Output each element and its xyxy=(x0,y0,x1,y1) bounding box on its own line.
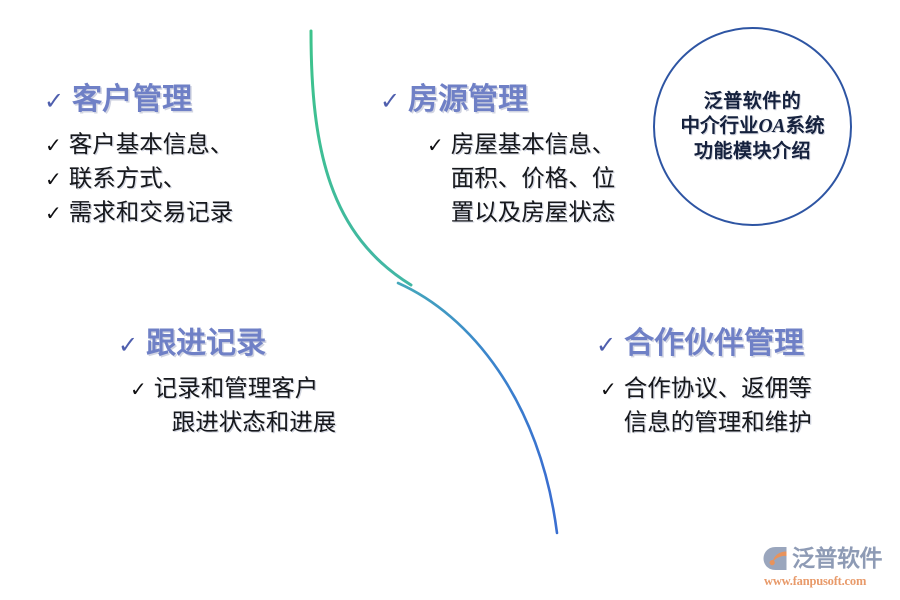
list-item: ✓ 记录和管理客户 跟进状态和进展 xyxy=(130,372,336,440)
list-item-line: 跟进状态和进展 xyxy=(154,406,337,440)
check-icon: ✓ xyxy=(380,89,400,113)
fanpu-mark-icon xyxy=(762,545,789,572)
quadrant-customer-heading: ✓ 客户管理 xyxy=(44,84,233,116)
slide-canvas: 泛普软件的 中介行业OA系统 功能模块介绍 ✓ 客户管理 ✓ 客户基本信息、 ✓… xyxy=(0,0,900,600)
check-icon: ✓ xyxy=(44,89,64,113)
quadrant-house: ✓ 房源管理 ✓ 房屋基本信息、 面积、价格、位 置以及房屋状态 xyxy=(380,84,615,230)
check-icon: ✓ xyxy=(130,372,147,406)
list-item-text: 联系方式、 xyxy=(69,162,187,196)
list-item-line: 房屋基本信息、 xyxy=(451,128,616,162)
fanpu-logo: 泛普软件 www.fanpusoft.com xyxy=(762,543,890,591)
quadrant-follow-heading: ✓ 跟进记录 xyxy=(118,328,336,360)
list-item-line: 客户基本信息、 xyxy=(69,128,234,162)
logo-url: www.fanpusoft.com xyxy=(764,574,866,589)
quadrant-customer-items: ✓ 客户基本信息、 ✓ 联系方式、 ✓ 需求和交易记录 xyxy=(45,128,233,230)
quadrant-partner: ✓ 合作伙伴管理 ✓ 合作协议、返佣等 信息的管理和维护 xyxy=(596,328,812,440)
list-item: ✓ 合作协议、返佣等 信息的管理和维护 xyxy=(600,372,812,440)
list-item: ✓ 客户基本信息、 xyxy=(45,128,233,162)
list-item-line: 合作协议、返佣等 xyxy=(624,372,812,406)
check-icon: ✓ xyxy=(118,333,138,357)
list-item-line: 记录和管理客户 xyxy=(154,372,337,406)
badge-line-3: 功能模块介绍 xyxy=(694,139,811,164)
badge-line-2-pre: 中介行业 xyxy=(680,116,758,137)
logo-top-row: 泛普软件 xyxy=(762,543,882,573)
check-icon: ✓ xyxy=(45,162,62,196)
quadrant-partner-title: 合作伙伴管理 xyxy=(624,328,804,360)
check-icon: ✓ xyxy=(596,333,616,357)
check-icon: ✓ xyxy=(427,128,444,162)
logo-wordmark: 泛普软件 xyxy=(792,547,882,570)
badge-line-2-oa: OA xyxy=(758,116,785,137)
list-item: ✓ 房屋基本信息、 面积、价格、位 置以及房屋状态 xyxy=(427,128,615,230)
quadrant-house-items: ✓ 房屋基本信息、 面积、价格、位 置以及房屋状态 xyxy=(427,128,615,230)
quadrant-partner-items: ✓ 合作协议、返佣等 信息的管理和维护 xyxy=(600,372,812,440)
check-icon: ✓ xyxy=(600,372,617,406)
quadrant-customer-title: 客户管理 xyxy=(72,84,192,116)
list-item-line: 联系方式、 xyxy=(69,162,187,196)
list-item-text: 客户基本信息、 xyxy=(69,128,234,162)
check-icon: ✓ xyxy=(45,196,62,230)
badge-line-1: 泛普软件的 xyxy=(704,89,802,114)
quadrant-house-heading: ✓ 房源管理 xyxy=(380,84,615,116)
list-item-line: 信息的管理和维护 xyxy=(624,406,812,440)
curve-bottom-blue xyxy=(398,283,557,533)
check-icon: ✓ xyxy=(45,128,62,162)
list-item: ✓ 联系方式、 xyxy=(45,162,233,196)
quadrant-customer: ✓ 客户管理 ✓ 客户基本信息、 ✓ 联系方式、 ✓ 需求和交易记录 xyxy=(44,84,233,230)
quadrant-partner-heading: ✓ 合作伙伴管理 xyxy=(596,328,812,360)
list-item-text: 记录和管理客户 跟进状态和进展 xyxy=(154,372,337,440)
list-item-line: 需求和交易记录 xyxy=(69,196,234,230)
quadrant-house-title: 房源管理 xyxy=(408,84,528,116)
quadrant-follow-items: ✓ 记录和管理客户 跟进状态和进展 xyxy=(130,372,336,440)
list-item-line: 面积、价格、位 xyxy=(451,162,616,196)
list-item-text: 房屋基本信息、 面积、价格、位 置以及房屋状态 xyxy=(451,128,616,230)
list-item-line: 置以及房屋状态 xyxy=(451,196,616,230)
badge-line-2-post: 系统 xyxy=(786,116,825,137)
quadrant-follow: ✓ 跟进记录 ✓ 记录和管理客户 跟进状态和进展 xyxy=(118,328,336,440)
list-item: ✓ 需求和交易记录 xyxy=(45,196,233,230)
circle-badge: 泛普软件的 中介行业OA系统 功能模块介绍 xyxy=(653,27,852,226)
list-item-text: 需求和交易记录 xyxy=(69,196,234,230)
badge-line-2: 中介行业OA系统 xyxy=(680,114,824,139)
quadrant-follow-title: 跟进记录 xyxy=(146,328,266,360)
list-item-text: 合作协议、返佣等 信息的管理和维护 xyxy=(624,372,812,440)
